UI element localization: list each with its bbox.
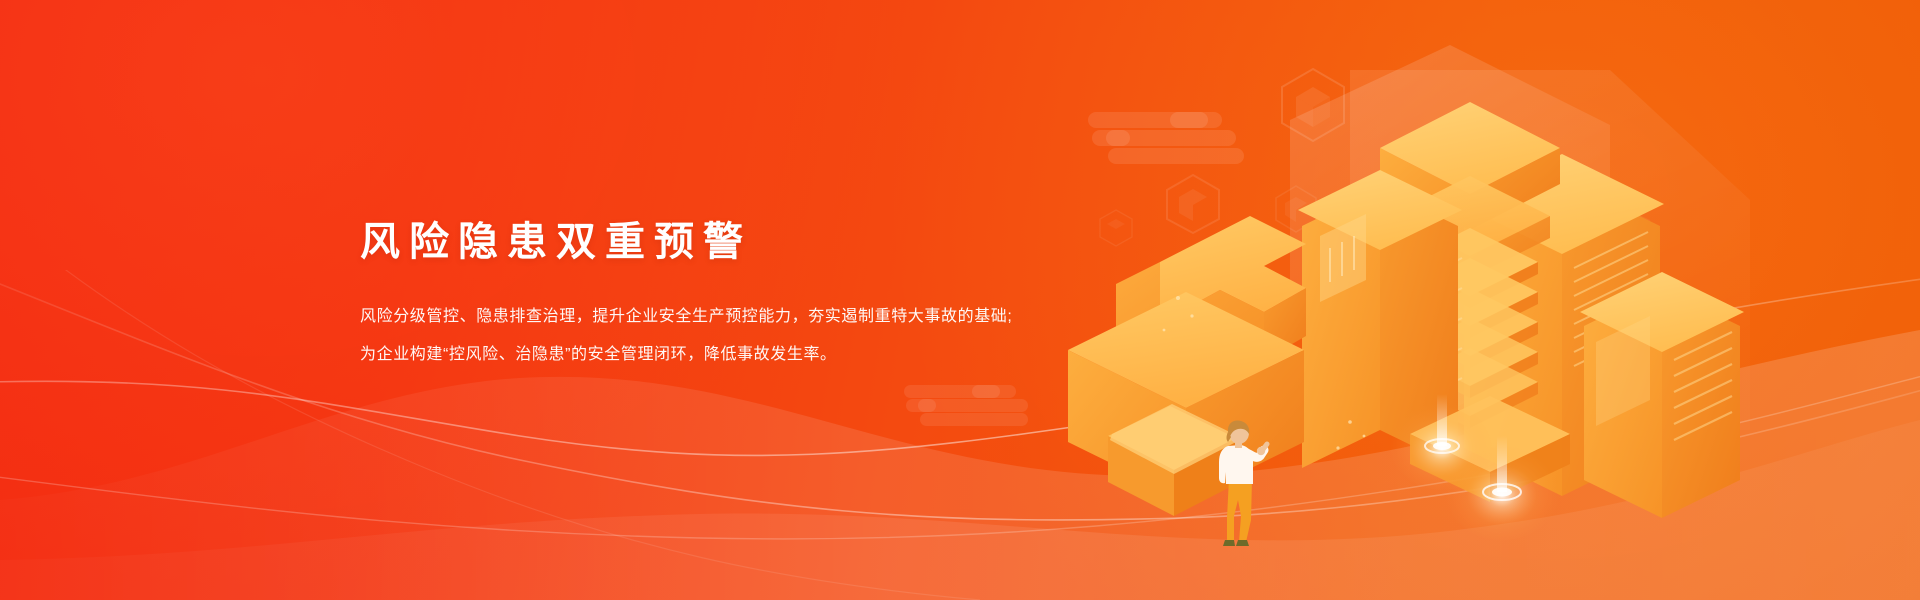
glowing-light-beam-icon xyxy=(1437,418,1567,548)
hexagon-cube-outline-icon xyxy=(1274,184,1318,234)
iso-arrow-block xyxy=(1116,216,1306,368)
iso-tower-left xyxy=(1298,170,1462,468)
hexagon-cube-outline-icon xyxy=(1164,172,1222,236)
chinese-cloud-motif-mid xyxy=(898,383,1058,429)
subtitle-line-1: 风险分级管控、隐患排查治理，提升企业安全生产预控能力，夯实遏制重特大事故的基础; xyxy=(360,298,1080,336)
person-pointing-figure xyxy=(1212,420,1272,550)
ghost-hex-backdrop xyxy=(1290,45,1750,470)
hexagon-cube-outline-icon xyxy=(1278,66,1348,144)
hexagon-cube-outline-icon xyxy=(1098,208,1134,248)
iso-column-far-right xyxy=(1580,272,1744,518)
iso-mid-slab xyxy=(1410,396,1570,502)
banner-copy: 风险隐患双重预警 风险分级管控、隐患排查治理，提升企业安全生产预控能力，夯实遏制… xyxy=(360,222,1080,374)
iso-tower-right xyxy=(1460,154,1664,496)
page-title: 风险隐患双重预警 xyxy=(360,222,1080,262)
banner-subtitle: 风险分级管控、隐患排查治理，提升企业安全生产预控能力，夯实遏制重特大事故的基础;… xyxy=(360,262,1080,374)
glowing-light-beam-icon xyxy=(1382,378,1502,498)
hero-banner: 风险隐患双重预警 风险分级管控、隐患排查治理，提升企业安全生产预控能力，夯实遏制… xyxy=(0,0,1920,600)
iso-layered-stack-center xyxy=(1380,102,1560,428)
chinese-cloud-motif-top xyxy=(1078,108,1278,172)
isometric-data-city-illustration xyxy=(1050,30,1810,590)
subtitle-line-2: 为企业构建“控风险、治隐患”的安全管理闭环，降低事故发生率。 xyxy=(360,336,1080,374)
